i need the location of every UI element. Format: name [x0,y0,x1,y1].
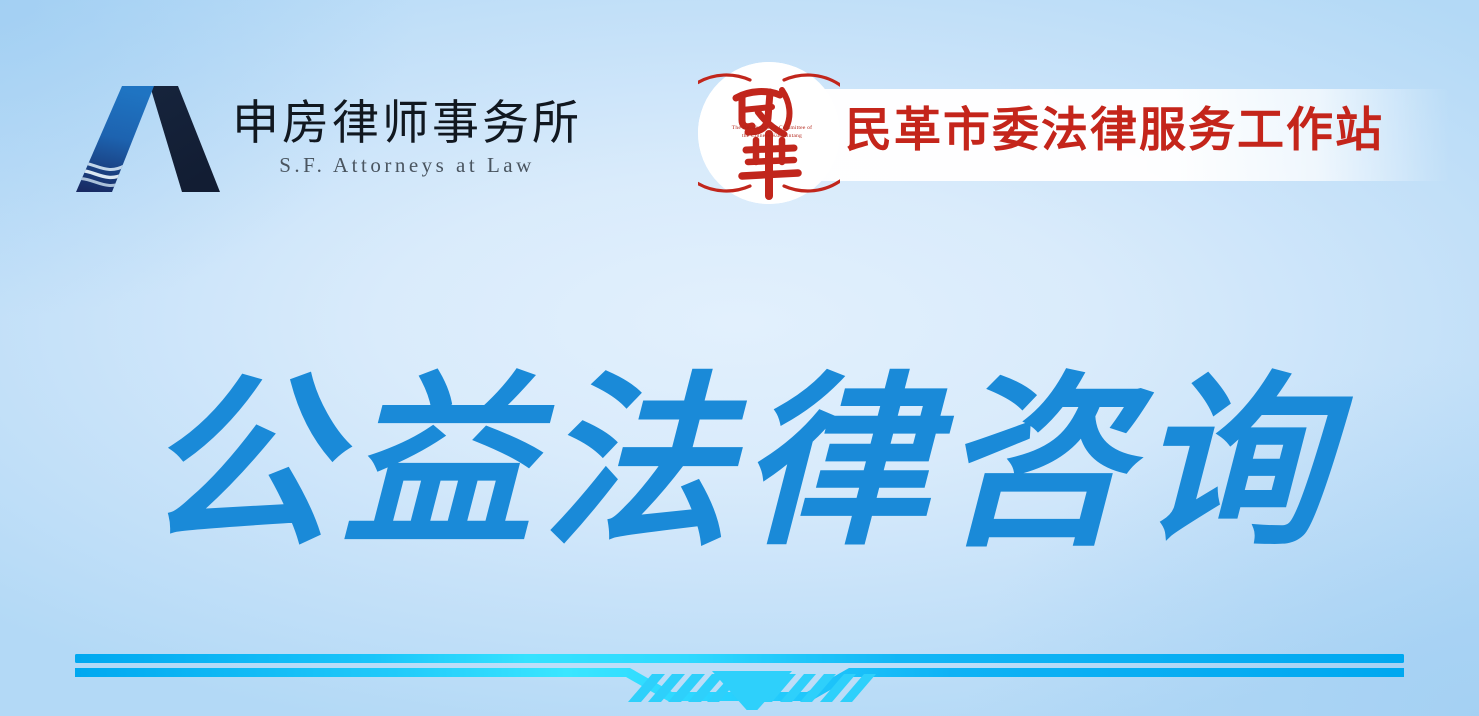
minge-seal-english-line1: The Revolutionary Committee of [720,124,824,132]
page-title: 公益法律咨询 [0,372,1479,557]
firm-a-monogram-icon [72,82,220,194]
minge-seal-logo: The Revolutionary Committee of the Chine… [698,62,840,204]
firm-name-block: 申房律师事务所 S.F. Attorneys at Law [232,101,582,176]
bottom-decoration [0,630,1479,710]
minge-banner-block: 民革市委法律服务工作站 [690,60,1450,210]
firm-name-en: S.F. Attorneys at Law [279,155,535,176]
law-firm-logo: 申房律师事务所 S.F. Attorneys at Law [72,82,582,194]
firm-name-cn: 申房律师事务所 [232,101,582,148]
minge-seal-english-line2: the Chinese Kuomintang [720,132,824,140]
minge-banner-text: 民革市委法律服务工作站 [845,106,1384,153]
poster-canvas: 申房律师事务所 S.F. Attorneys at Law 民革市委法律服务工作… [0,0,1479,716]
minge-seal-english: The Revolutionary Committee of the Chine… [720,124,824,141]
